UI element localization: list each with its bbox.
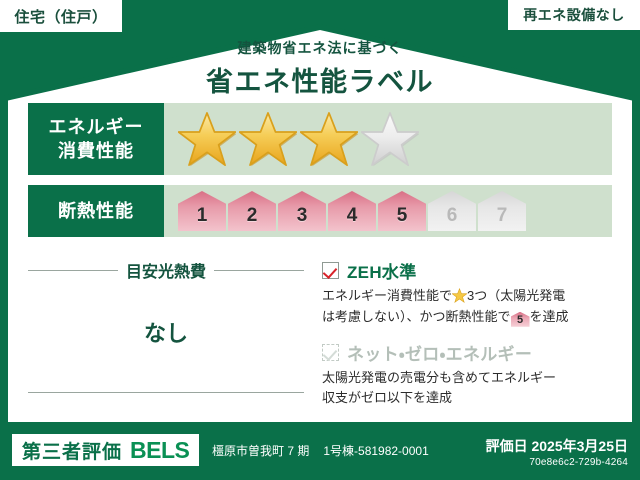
check-icon: [322, 262, 339, 279]
building-number: 1号棟-581982-0001: [323, 442, 428, 459]
energy-label-line2: 消費性能: [58, 139, 134, 163]
utility-cost-value: なし: [28, 316, 304, 348]
energy-performance-label: エネルギー 消費性能: [28, 103, 164, 175]
utility-cost-title: 目安光熱費: [126, 258, 206, 282]
performance-rows: エネルギー 消費性能 断熱性能 1234567: [28, 103, 612, 247]
star-icon-filled: [239, 111, 297, 167]
address-text: 橿原市曽我町 7 期: [212, 442, 309, 459]
insulation-performance-label: 断熱性能: [28, 185, 164, 237]
energy-performance-row: エネルギー 消費性能: [28, 103, 612, 175]
page-title: 省エネ性能ラベル: [0, 60, 640, 99]
star-icon-filled: [300, 111, 358, 167]
utility-cost-bottom-rule: [28, 392, 304, 393]
insulation-grade-scale: 1234567: [164, 185, 612, 237]
grade-strip: 1234567: [178, 191, 526, 231]
star-icon-empty: [361, 111, 419, 167]
grade-badge-5: 5: [378, 191, 426, 231]
building-type-tag: 住宅（住戸）: [0, 0, 122, 32]
net-zero-title: ネット・ゼロ・エネルギー: [347, 340, 532, 365]
footer-address: 橿原市曽我町 7 期 1号棟-581982-0001: [212, 442, 429, 459]
star-icon-filled: [178, 111, 236, 167]
zeh-title: ZEH水準: [347, 258, 417, 283]
footer: 第三者評価 BELS 橿原市曽我町 7 期 1号棟-581982-0001 評価…: [0, 428, 640, 480]
zeh-description: エネルギー消費性能で3つ（太陽光発電 は考慮しない）、かつ断熱性能で5を達成: [322, 286, 612, 328]
grade-badge-2: 2: [228, 191, 276, 231]
renewable-equipment-tag: 再エネ設備なし: [508, 0, 640, 30]
grade-badge-4: 4: [328, 191, 376, 231]
grade-badge-7: 7: [478, 191, 526, 231]
rule-left: [28, 270, 118, 271]
utility-cost-heading: 目安光熱費: [28, 258, 304, 282]
evaluation-date-value: 2025年3月25日: [531, 438, 628, 454]
zeh-desc-part2: 3つ（太陽光発電: [467, 288, 565, 303]
zeh-desc-part1: エネルギー消費性能で: [322, 288, 452, 303]
grade-badge-3: 3: [278, 191, 326, 231]
net-zero-line1: 太陽光発電の売電分も含めてエネルギー: [322, 370, 556, 385]
energy-star-rating: [164, 103, 612, 175]
net-zero-line2: 収支がゼロ以下を達成: [322, 390, 452, 405]
insulation-performance-row: 断熱性能 1234567: [28, 185, 612, 237]
lower-content: 目安光熱費 なし ZEH水準 エネルギー消費性能で3つ（太陽光発電 は考慮しない…: [28, 258, 612, 408]
star-icon: [452, 288, 467, 303]
bels-wordmark: BELS: [130, 437, 189, 464]
energy-performance-label: 住宅（住戸） 再エネ設備なし 建築物省エネ法に基づく 省エネ性能ラベル エネルギ…: [0, 0, 640, 480]
grade-badge-6: 6: [428, 191, 476, 231]
net-zero-description: 太陽光発電の売電分も含めてエネルギー 収支がゼロ以下を達成: [322, 368, 612, 410]
inline-grade-badge: 5: [511, 312, 530, 327]
zeh-heading: ZEH水準: [322, 258, 612, 283]
bels-logo: 第三者評価 BELS: [12, 434, 199, 466]
evaluation-date: 評価日 2025年3月25日: [486, 436, 628, 456]
grade-badge-1: 1: [178, 191, 226, 231]
energy-label-line1: エネルギー: [49, 115, 144, 139]
criteria-section: ZEH水準 エネルギー消費性能で3つ（太陽光発電 は考慮しない）、かつ断熱性能で…: [318, 258, 612, 408]
rule-right: [214, 270, 304, 271]
heading-subtitle: 建築物省エネ法に基づく: [0, 38, 640, 58]
evaluation-id: 70e8e6c2-729b-4264: [486, 457, 628, 468]
evaluation-date-label: 評価日: [486, 438, 528, 454]
third-party-evaluation-text: 第三者評価: [22, 437, 122, 464]
zeh-desc-part4: を達成: [530, 309, 569, 324]
footer-evaluation-info: 評価日 2025年3月25日 70e8e6c2-729b-4264: [486, 436, 628, 468]
net-zero-heading: ネット・ゼロ・エネルギー: [322, 340, 612, 365]
zeh-desc-part3: は考慮しない）、かつ断熱性能で: [322, 309, 511, 324]
utility-cost-section: 目安光熱費 なし: [28, 258, 318, 408]
star-strip: [178, 111, 419, 167]
label-heading: 建築物省エネ法に基づく 省エネ性能ラベル: [0, 38, 640, 99]
check-icon-disabled: [322, 344, 339, 361]
